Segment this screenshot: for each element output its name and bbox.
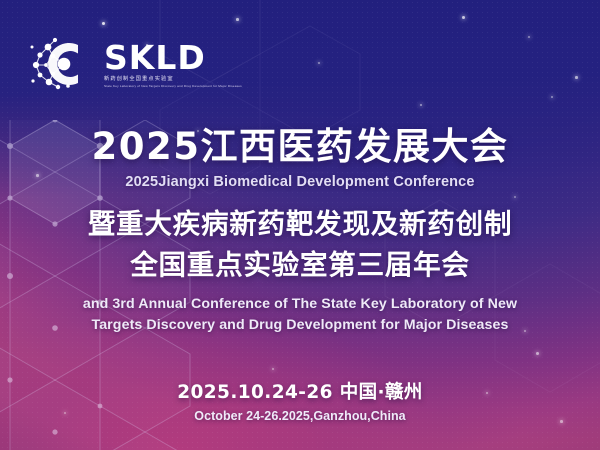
conference-subtitle-cn-1: 暨重大疾病新药靶发现及新药创制 — [0, 207, 600, 242]
logo-acronym: SKLD — [104, 42, 242, 73]
conference-subtitle-en-2: Targets Discovery and Drug Development f… — [0, 315, 600, 337]
poster-footer-block: 2025.10.24-26 中国·赣州 October 24-26.2025,G… — [0, 378, 600, 423]
logo-english-name: State Key Laboratory of New Targets Disc… — [104, 84, 242, 88]
conference-subtitle-en-1: and 3rd Annual Conference of The State K… — [0, 294, 600, 316]
date-location-cn: 2025.10.24-26 中国·赣州 — [0, 378, 600, 404]
logo-chinese-name: 新药创制全国重点实验室 — [104, 76, 242, 84]
conference-title-en: 2025Jiangxi Biomedical Development Confe… — [0, 174, 600, 190]
poster-title-block: 2025江西医药发展大会 2025Jiangxi Biomedical Deve… — [0, 126, 600, 337]
conference-title-cn: 2025江西医药发展大会 — [0, 126, 600, 167]
conference-subtitle-cn-2: 全国重点实验室第三届年会 — [0, 248, 600, 283]
conference-poster: SKLD 新药创制全国重点实验室 State Key Laboratory of… — [0, 0, 600, 450]
skld-molecular-c-logo-icon — [30, 34, 98, 94]
date-location-en: October 24-26.2025,Ganzhou,China — [0, 409, 600, 423]
logo-text-column: SKLD 新药创制全国重点实验室 State Key Laboratory of… — [104, 40, 242, 88]
skld-logo: SKLD 新药创制全国重点实验室 State Key Laboratory of… — [30, 34, 242, 94]
